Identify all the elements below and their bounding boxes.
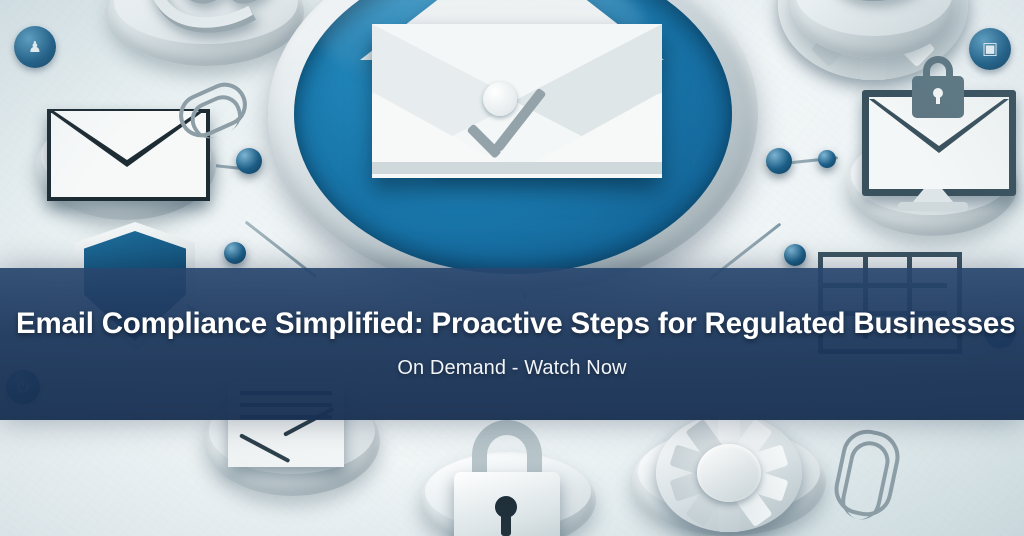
user-badge-icon: ♟: [14, 26, 56, 68]
connector-node: [766, 148, 792, 174]
connector-node: [784, 244, 806, 266]
check-mark-icon: [464, 94, 560, 160]
monitor-lock-icon: [850, 90, 1020, 220]
title-overlay-band: Email Compliance Simplified: Proactive S…: [0, 268, 1024, 420]
email-compliance-banner: @ ♟ ⏻: [0, 0, 1024, 536]
window-badge-icon: ▣: [969, 28, 1011, 70]
connector-node: [236, 148, 262, 174]
gear-disc-icon: [656, 414, 802, 532]
page-title: Email Compliance Simplified: Proactive S…: [0, 308, 1024, 340]
envelope-edge: [372, 162, 662, 174]
central-email-graphic: [268, 0, 758, 294]
connector-node: [224, 242, 246, 264]
connector-node: [818, 150, 836, 168]
lock-icon: [912, 76, 964, 118]
page-subtitle: On Demand - Watch Now: [397, 357, 626, 380]
padlock-icon: [448, 420, 566, 536]
paperclip-icon-2: [830, 425, 905, 521]
